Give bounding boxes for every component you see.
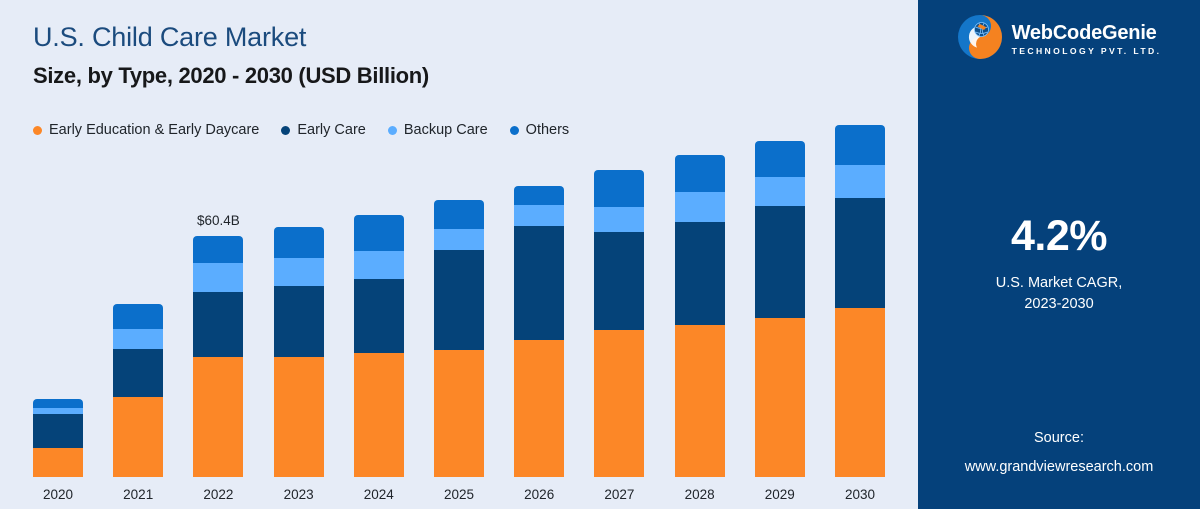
- bar-segment-others[interactable]: [835, 125, 885, 165]
- bar-segment-others[interactable]: [354, 215, 404, 251]
- bar-segment-early-education[interactable]: [594, 330, 644, 477]
- bar-segment-early-education[interactable]: [514, 340, 564, 477]
- bar-segment-early-education[interactable]: [755, 318, 805, 477]
- x-axis-tick-label: 2021: [123, 487, 153, 502]
- bar-segment-early-education[interactable]: [193, 357, 243, 477]
- bar-segment-early-care[interactable]: [755, 206, 805, 318]
- bar-segment-early-care[interactable]: [33, 414, 83, 448]
- stacked-bar[interactable]: [113, 304, 163, 477]
- bar-segment-others[interactable]: [434, 200, 484, 229]
- x-axis-tick-label: 2025: [444, 487, 474, 502]
- stacked-bar[interactable]: [274, 227, 324, 477]
- bar-segment-early-care[interactable]: [594, 232, 644, 330]
- bar-segment-early-care[interactable]: [434, 250, 484, 350]
- bar-segment-early-education[interactable]: [434, 350, 484, 477]
- stacked-bar[interactable]: [514, 186, 564, 477]
- bar-value-label: $60.4B: [197, 213, 240, 228]
- stacked-bar[interactable]: [755, 141, 805, 477]
- bar-group[interactable]: 2029: [755, 141, 805, 477]
- cagr-value: 4.2%: [918, 215, 1200, 258]
- bar-segment-others[interactable]: [193, 236, 243, 263]
- bar-segment-backup-care[interactable]: [193, 263, 243, 292]
- bar-segment-early-care[interactable]: [274, 286, 324, 357]
- stacked-bar[interactable]: [354, 215, 404, 477]
- source-block: Source: www.grandviewresearch.com: [918, 430, 1200, 475]
- x-axis-tick-label: 2027: [604, 487, 634, 502]
- bar-group[interactable]: 2020: [33, 399, 83, 477]
- bar-segment-early-education[interactable]: [33, 448, 83, 477]
- bar-segment-backup-care[interactable]: [594, 207, 644, 232]
- x-axis-tick-label: 2023: [284, 487, 314, 502]
- webcodegenie-logo-icon: [957, 14, 1003, 65]
- bar-segment-backup-care[interactable]: [755, 177, 805, 206]
- bar-segment-early-education[interactable]: [835, 308, 885, 477]
- brand-block: WebCodeGenie TECHNOLOGY PVT. LTD.: [918, 14, 1200, 65]
- bar-group[interactable]: 2021: [113, 304, 163, 477]
- bar-segment-early-care[interactable]: [675, 222, 725, 325]
- bar-segment-others[interactable]: [274, 227, 324, 258]
- bar-segment-early-care[interactable]: [835, 198, 885, 308]
- bar-group[interactable]: $60.4B2022: [193, 236, 243, 477]
- stacked-bar[interactable]: [193, 236, 243, 477]
- chart-panel: U.S. Child Care Market Size, by Type, 20…: [0, 0, 918, 509]
- cagr-caption-line-2: 2023-2030: [918, 296, 1200, 312]
- x-axis-tick-label: 2026: [524, 487, 554, 502]
- bar-segment-early-education[interactable]: [274, 357, 324, 477]
- bar-group[interactable]: 2026: [514, 186, 564, 477]
- brand-name: WebCodeGenie: [1012, 23, 1162, 43]
- bar-segment-backup-care[interactable]: [274, 258, 324, 286]
- bar-segment-early-care[interactable]: [514, 226, 564, 340]
- bar-segment-early-education[interactable]: [354, 353, 404, 477]
- x-axis-tick-label: 2020: [43, 487, 73, 502]
- infographic-root: U.S. Child Care Market Size, by Type, 20…: [0, 0, 1200, 509]
- bar-segment-early-care[interactable]: [354, 279, 404, 353]
- bar-segment-others[interactable]: [113, 304, 163, 329]
- bar-segment-early-education[interactable]: [675, 325, 725, 477]
- plot-area: 20202021$60.4B20222023202420252026202720…: [0, 0, 918, 509]
- bar-segment-early-education[interactable]: [113, 397, 163, 477]
- x-axis-tick-label: 2029: [765, 487, 795, 502]
- bar-segment-backup-care[interactable]: [675, 192, 725, 222]
- cagr-caption-line-1: U.S. Market CAGR,: [918, 275, 1200, 291]
- bar-segment-others[interactable]: [594, 170, 644, 207]
- stacked-bar[interactable]: [594, 170, 644, 477]
- source-label: Source:: [918, 430, 1200, 446]
- bar-segment-others[interactable]: [675, 155, 725, 192]
- x-axis-tick-label: 2028: [685, 487, 715, 502]
- bar-segment-others[interactable]: [755, 141, 805, 177]
- stacked-bar[interactable]: [835, 125, 885, 477]
- bar-segment-others[interactable]: [514, 186, 564, 205]
- brand-text: WebCodeGenie TECHNOLOGY PVT. LTD.: [1012, 23, 1162, 56]
- stacked-bar[interactable]: [33, 399, 83, 477]
- stacked-bar[interactable]: [434, 200, 484, 477]
- brand-tagline: TECHNOLOGY PVT. LTD.: [1012, 47, 1162, 56]
- bar-group[interactable]: 2025: [434, 200, 484, 477]
- x-axis-tick-label: 2022: [203, 487, 233, 502]
- x-axis-tick-label: 2024: [364, 487, 394, 502]
- bar-segment-backup-care[interactable]: [835, 165, 885, 198]
- bar-group[interactable]: 2030: [835, 125, 885, 477]
- bar-segment-backup-care[interactable]: [113, 329, 163, 349]
- side-panel: WebCodeGenie TECHNOLOGY PVT. LTD. 4.2% U…: [918, 0, 1200, 509]
- bar-group[interactable]: 2027: [594, 170, 644, 477]
- bar-segment-others[interactable]: [33, 399, 83, 408]
- bar-segment-backup-care[interactable]: [354, 251, 404, 279]
- source-url[interactable]: www.grandviewresearch.com: [918, 459, 1200, 475]
- bar-segment-early-care[interactable]: [113, 349, 163, 397]
- stacked-bar[interactable]: [675, 155, 725, 477]
- bar-group[interactable]: 2023: [274, 227, 324, 477]
- bar-segment-backup-care[interactable]: [514, 205, 564, 226]
- cagr-block: 4.2% U.S. Market CAGR, 2023-2030: [918, 215, 1200, 312]
- bar-group[interactable]: 2028: [675, 155, 725, 477]
- bar-segment-backup-care[interactable]: [434, 229, 484, 250]
- x-axis-tick-label: 2030: [845, 487, 875, 502]
- bar-group[interactable]: 2024: [354, 215, 404, 477]
- bar-segment-early-care[interactable]: [193, 292, 243, 357]
